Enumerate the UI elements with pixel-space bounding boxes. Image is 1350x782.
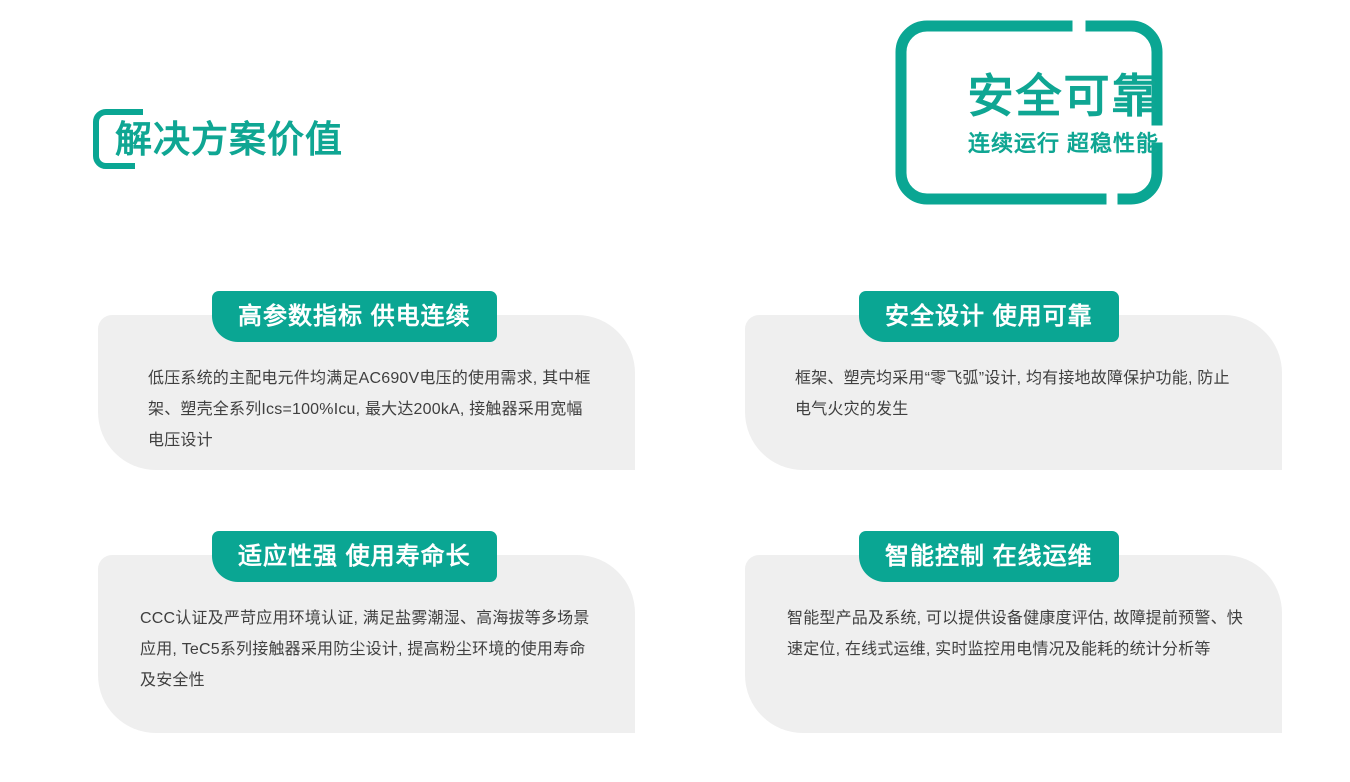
- card-body-text: CCC认证及严苛应用环境认证, 满足盐雾潮湿、高海拔等多场景应用, TeC5系列…: [140, 603, 597, 696]
- value-card: 智能控制 在线运维 智能型产品及系统, 可以提供设备健康度评估, 故障提前预警、…: [745, 555, 1282, 733]
- card-badge-label: 适应性强 使用寿命长: [238, 545, 471, 569]
- value-card: 高参数指标 供电连续 低压系统的主配电元件均满足AC690V电压的使用需求, 其…: [98, 315, 635, 470]
- card-badge-label: 高参数指标 供电连续: [238, 305, 471, 329]
- card-badge: 适应性强 使用寿命长: [212, 531, 497, 582]
- value-cards-grid: 高参数指标 供电连续 低压系统的主配电元件均满足AC690V电压的使用需求, 其…: [0, 0, 1350, 782]
- card-badge-label: 安全设计 使用可靠: [885, 305, 1093, 329]
- card-badge: 安全设计 使用可靠: [859, 291, 1119, 342]
- card-badge-label: 智能控制 在线运维: [885, 545, 1093, 569]
- card-body-text: 低压系统的主配电元件均满足AC690V电压的使用需求, 其中框架、塑壳全系列Ic…: [148, 363, 597, 456]
- card-badge: 智能控制 在线运维: [859, 531, 1119, 582]
- card-body-text: 智能型产品及系统, 可以提供设备健康度评估, 故障提前预警、快速定位, 在线式运…: [787, 603, 1244, 665]
- card-body-text: 框架、塑壳均采用“零飞弧”设计, 均有接地故障保护功能, 防止电气火灾的发生: [795, 363, 1244, 425]
- value-card: 适应性强 使用寿命长 CCC认证及严苛应用环境认证, 满足盐雾潮湿、高海拔等多场…: [98, 555, 635, 733]
- card-badge: 高参数指标 供电连续: [212, 291, 497, 342]
- value-card: 安全设计 使用可靠 框架、塑壳均采用“零飞弧”设计, 均有接地故障保护功能, 防…: [745, 315, 1282, 470]
